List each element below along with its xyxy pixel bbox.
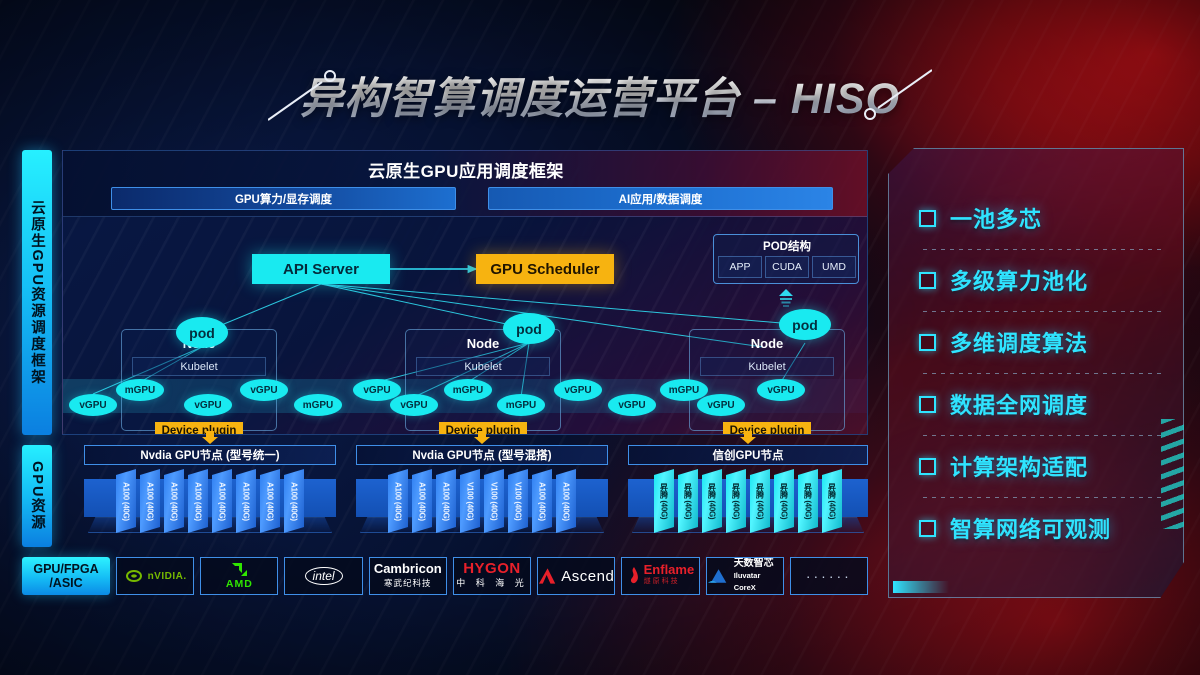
feature-label: 多维调度算法 xyxy=(950,326,1088,358)
vendor-logo-amd[interactable]: AMD xyxy=(200,557,278,595)
gpu-chip-vgpu-1-5[interactable]: vGPU xyxy=(608,394,656,416)
gpu-node-group-0[interactable]: Nvdia GPU节点 (型号统一) A100 (40G)A100 (40G)A… xyxy=(84,445,336,547)
vendor-name-iluvatar: 天数智芯 xyxy=(734,559,783,569)
gpu-card[interactable]: A100 (40G) xyxy=(188,469,208,533)
gpu-card-label: 昇腾 (40G) xyxy=(755,483,766,519)
down-arrow-icon xyxy=(739,431,757,444)
pod-cell-app: APP xyxy=(718,256,762,278)
gpu-node-title: Nvdia GPU节点 (型号统一) xyxy=(84,445,336,465)
feature-label: 数据全网调度 xyxy=(950,388,1088,420)
title-right-decoration xyxy=(782,64,932,126)
gpu-card[interactable]: A100 (40G) xyxy=(532,469,552,533)
gpu-card-list-2: 昇腾 (40G)昇腾 (40G)昇腾 (40G)昇腾 (40G)昇腾 (40G)… xyxy=(628,469,868,533)
gpu-card-label: A100 (40G) xyxy=(442,482,451,521)
vendor-name-enflame: Enflame xyxy=(644,562,695,577)
feature-panel-corner-accent xyxy=(893,581,949,593)
gpu-card-label: A100 (40G) xyxy=(266,482,275,521)
feature-item-5[interactable]: 智算网络可观测 xyxy=(919,497,1165,559)
gpu-chip-vgpu-1-4[interactable]: vGPU xyxy=(554,379,602,401)
gpu-card[interactable]: A100 (40G) xyxy=(260,469,280,533)
gpu-card-label: 昇腾 (40G) xyxy=(827,483,838,519)
vendor-sub-iluvatar: Iluvatar CoreX xyxy=(734,571,761,592)
gpu-card-label: A100 (40G) xyxy=(218,482,227,521)
gpu-node-title: 信创GPU节点 xyxy=(628,445,868,465)
gpu-card-label: A100 (40G) xyxy=(562,482,571,521)
checkbox-icon xyxy=(919,520,936,537)
gpu-card-label: 昇腾 (40G) xyxy=(803,483,814,519)
vendor-logo-nvidia[interactable]: nVIDIA. xyxy=(116,557,194,595)
gpu-card-label: A100 (40G) xyxy=(146,482,155,521)
api-server-box[interactable]: API Server xyxy=(252,254,390,284)
vendor-sub-hygon: 中 科 海 光 xyxy=(456,576,528,590)
vendor-name-hygon: HYGON xyxy=(463,560,521,577)
checkbox-icon xyxy=(919,210,936,227)
title-bar: 异构智算调度运营平台 – HISO xyxy=(0,64,1200,126)
pod-ellipse-2[interactable]: pod xyxy=(779,309,831,340)
gpu-chip-vgpu-0-2[interactable]: vGPU xyxy=(184,394,232,416)
vendor-logo-iluvatar[interactable]: 天数智芯 Iluvatar CoreX xyxy=(706,557,784,595)
nvidia-eye-icon xyxy=(124,569,144,583)
gpu-card-label: A100 (40G) xyxy=(394,482,403,521)
gpu-chip-vgpu-2-1[interactable]: vGPU xyxy=(697,394,745,416)
iluvatar-mountain-icon xyxy=(707,568,730,585)
gpu-card[interactable]: A100 (40G) xyxy=(412,469,432,533)
vendor-logo-row: GPU/FPGA /ASIC nVIDIA. AMD intel Cambric… xyxy=(22,556,868,596)
checkbox-icon xyxy=(919,396,936,413)
pod-structure-box[interactable]: POD结构 APP CUDA UMD xyxy=(713,234,859,284)
gpu-scheduler-box[interactable]: GPU Scheduler xyxy=(476,254,614,284)
kubelet-box: Kubelet xyxy=(416,357,550,376)
side-label-framework: 云原生GPU资源调度框架 xyxy=(22,150,52,435)
vendor-row-label: GPU/FPGA /ASIC xyxy=(22,557,110,595)
vendor-logo-intel[interactable]: intel xyxy=(284,557,362,595)
down-arrow-icon xyxy=(473,431,491,444)
title-left-decoration xyxy=(268,64,418,126)
checkbox-icon xyxy=(919,272,936,289)
vendor-name-cambricon: Cambricon xyxy=(374,562,442,575)
feature-list: 一池多芯多级算力池化多维调度算法数据全网调度计算架构适配智算网络可观测 xyxy=(889,149,1183,597)
gpu-node-title: Nvdia GPU节点 (型号混搭) xyxy=(356,445,608,465)
gpu-card[interactable]: A100 (40G) xyxy=(116,469,136,533)
vendor-name-ascend: Ascend xyxy=(561,568,614,585)
gpu-card[interactable]: A100 (40G) xyxy=(556,469,576,533)
vendor-logo-more[interactable]: ······ xyxy=(790,557,868,595)
down-arrow-icon xyxy=(201,431,219,444)
pod-cell-cuda: CUDA xyxy=(765,256,809,278)
gpu-chip-mgpu-0-4[interactable]: mGPU xyxy=(294,394,342,416)
gpu-card-label: 昇腾 (40G) xyxy=(659,483,670,519)
architecture-diagram: 云原生GPU资源调度框架 GPU资源 云原生GPU应用调度框架 GPU算力/显存… xyxy=(22,145,868,600)
gpu-card[interactable]: 昇腾 (40G) xyxy=(774,469,794,533)
gpu-card-label: A100 (40G) xyxy=(122,482,131,521)
gpu-node-group-1[interactable]: Nvdia GPU节点 (型号混搭) A100 (40G)A100 (40G)A… xyxy=(356,445,608,547)
gpu-card-label: A100 (40G) xyxy=(194,482,203,521)
feature-label: 计算架构适配 xyxy=(950,450,1088,482)
gpu-card[interactable]: A100 (40G) xyxy=(388,469,408,533)
pod-cell-umd: UMD xyxy=(812,256,856,278)
gpu-card[interactable]: 昇腾 (40G) xyxy=(822,469,842,533)
kubelet-box: Kubelet xyxy=(700,357,834,376)
feature-label: 智算网络可观测 xyxy=(950,512,1111,544)
gpu-chip-vgpu-0-0[interactable]: vGPU xyxy=(69,394,117,416)
checkbox-icon xyxy=(919,334,936,351)
device-plugin-badge[interactable]: Device plugin xyxy=(723,422,811,435)
gpu-card[interactable]: V100 (40G) xyxy=(460,469,480,533)
amd-arrow-icon xyxy=(231,562,248,577)
vendor-logo-ascend[interactable]: Ascend xyxy=(537,557,615,595)
feature-item-1[interactable]: 多级算力池化 xyxy=(919,249,1165,311)
vendor-sub-cambricon: 寒武纪科技 xyxy=(384,578,432,588)
feature-item-3[interactable]: 数据全网调度 xyxy=(919,373,1165,435)
checkbox-icon xyxy=(919,458,936,475)
feature-label: 一池多芯 xyxy=(950,202,1042,234)
gpu-card[interactable]: 昇腾 (40G) xyxy=(798,469,818,533)
gpu-card-label: 昇腾 (40G) xyxy=(779,483,790,519)
vendor-logo-enflame[interactable]: Enflame 燧原科技 xyxy=(621,557,699,595)
gpu-resources-row: Nvdia GPU节点 (型号统一) A100 (40G)A100 (40G)A… xyxy=(62,445,868,547)
feature-panel-stripes xyxy=(1161,419,1185,529)
feature-item-0[interactable]: 一池多芯 xyxy=(919,187,1165,249)
pod-ellipse-1[interactable]: pod xyxy=(503,313,555,344)
gpu-card[interactable]: A100 (40G) xyxy=(436,469,456,533)
vendor-logo-hygon[interactable]: HYGON 中 科 海 光 xyxy=(453,557,531,595)
node-box-1[interactable]: Node Kubelet Device plugin xyxy=(405,329,561,431)
feature-label: 多级算力池化 xyxy=(950,264,1088,296)
feature-item-4[interactable]: 计算架构适配 xyxy=(919,435,1165,497)
gpu-card-label: A100 (40G) xyxy=(538,482,547,521)
gpu-card-label: 昇腾 (40G) xyxy=(707,483,718,519)
gpu-chip-mgpu-1-3[interactable]: mGPU xyxy=(497,394,545,416)
gpu-card-label: A100 (40G) xyxy=(290,482,299,521)
gpu-node-group-2[interactable]: 信创GPU节点 昇腾 (40G)昇腾 (40G)昇腾 (40G)昇腾 (40G)… xyxy=(628,445,868,547)
feature-item-2[interactable]: 多维调度算法 xyxy=(919,311,1165,373)
gpu-card[interactable]: A100 (40G) xyxy=(284,469,304,533)
gpu-chip-vgpu-0-3[interactable]: vGPU xyxy=(240,379,288,401)
gpu-card-label: V100 (40G) xyxy=(514,482,523,520)
kubelet-box: Kubelet xyxy=(132,357,266,376)
pod-structure-arrow-icon xyxy=(776,287,796,309)
vendor-name-nvidia: nVIDIA. xyxy=(148,571,187,582)
gpu-chip-mgpu-1-2[interactable]: mGPU xyxy=(444,379,492,401)
gpu-card-label: 昇腾 (40G) xyxy=(731,483,742,519)
vendor-sub-enflame: 燧原科技 xyxy=(644,576,695,588)
vendor-name-intel: intel xyxy=(305,567,343,585)
gpu-card[interactable]: A100 (40G) xyxy=(140,469,160,533)
framework-panel: 云原生GPU应用调度框架 GPU算力/显存调度 AI应用/数据调度 xyxy=(62,150,868,435)
gpu-card[interactable]: 昇腾 (40G) xyxy=(654,469,674,533)
gpu-card-list-0: A100 (40G)A100 (40G)A100 (40G)A100 (40G)… xyxy=(84,469,336,533)
gpu-card-label: A100 (40G) xyxy=(418,482,427,521)
node-title: Node xyxy=(690,336,844,351)
gpu-card[interactable]: 昇腾 (40G) xyxy=(702,469,722,533)
gpu-chip-vgpu-2-2[interactable]: vGPU xyxy=(757,379,805,401)
feature-panel: 一池多芯多级算力池化多维调度算法数据全网调度计算架构适配智算网络可观测 xyxy=(888,148,1184,598)
gpu-card-label: 昇腾 (40G) xyxy=(683,483,694,519)
gpu-card-label: A100 (40G) xyxy=(170,482,179,521)
pod-ellipse-0[interactable]: pod xyxy=(176,317,228,348)
gpu-card-list-1: A100 (40G)A100 (40G)A100 (40G)V100 (40G)… xyxy=(356,469,608,533)
gpu-card-label: V100 (40G) xyxy=(466,482,475,520)
vendor-tag-line1: GPU/FPGA xyxy=(33,562,98,576)
gpu-card[interactable]: A100 (40G) xyxy=(236,469,256,533)
gpu-chip-vgpu-1-1[interactable]: vGPU xyxy=(390,394,438,416)
enflame-flame-icon xyxy=(627,567,640,585)
gpu-card-label: V100 (40G) xyxy=(490,482,499,520)
pod-structure-title: POD结构 xyxy=(714,238,860,254)
gpu-card[interactable]: V100 (40G) xyxy=(484,469,504,533)
gpu-card[interactable]: A100 (40G) xyxy=(212,469,232,533)
device-plugin-badge[interactable]: Device plugin xyxy=(155,422,243,435)
gpu-card[interactable]: 昇腾 (40G) xyxy=(726,469,746,533)
gpu-chip-mgpu-0-1[interactable]: mGPU xyxy=(116,379,164,401)
vendor-tag-line2: /ASIC xyxy=(33,576,98,590)
vendor-logo-cambricon[interactable]: Cambricon 寒武纪科技 xyxy=(369,557,447,595)
vendor-name-amd: AMD xyxy=(226,578,253,590)
vendor-name-more: ······ xyxy=(806,568,852,584)
gpu-card[interactable]: A100 (40G) xyxy=(164,469,184,533)
gpu-card[interactable]: 昇腾 (40G) xyxy=(750,469,770,533)
pod-structure-cells: APP CUDA UMD xyxy=(718,256,856,278)
side-label-gpu-resources: GPU资源 xyxy=(22,445,52,547)
gpu-card-label: A100 (40G) xyxy=(242,482,251,521)
gpu-card[interactable]: 昇腾 (40G) xyxy=(678,469,698,533)
ascend-mark-icon xyxy=(538,567,557,585)
gpu-card[interactable]: V100 (40G) xyxy=(508,469,528,533)
